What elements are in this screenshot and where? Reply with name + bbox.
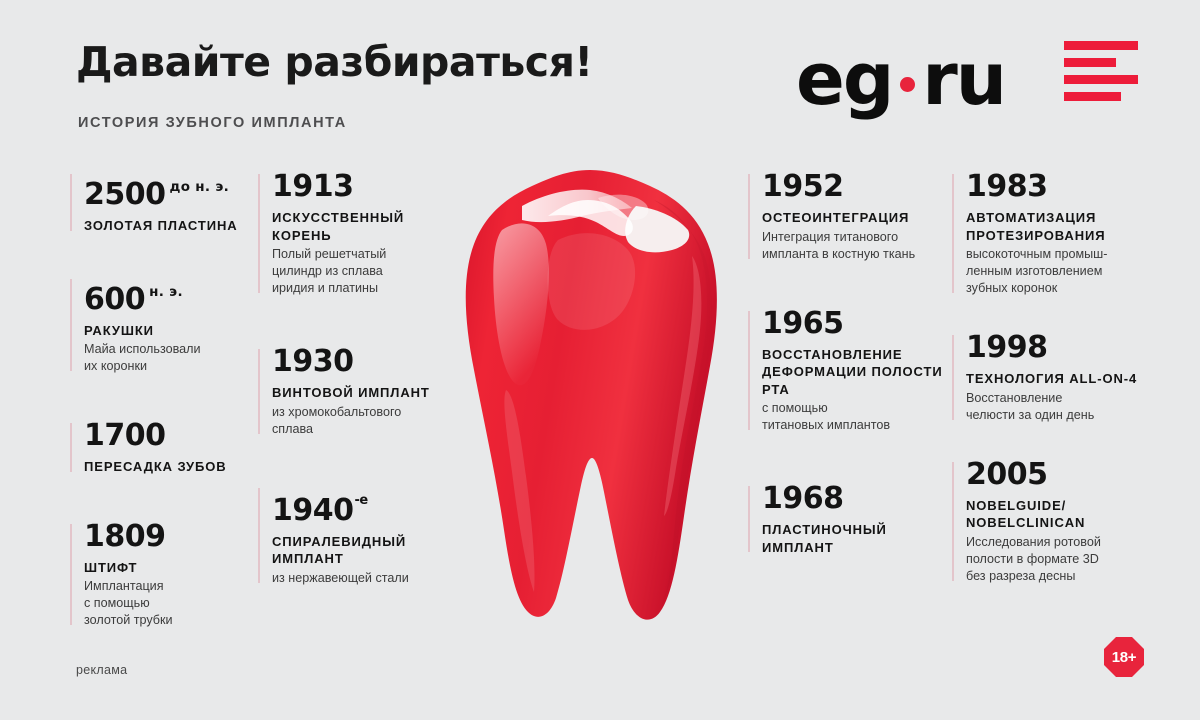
- entry-label: АВТОМАТИЗАЦИЯ ПРОТЕЗИРОВАНИЯ: [966, 209, 1152, 244]
- entry-year: 1998: [966, 331, 1152, 365]
- entry-label: NOBELGUIDE/ NOBELCLINICAN: [966, 497, 1152, 532]
- entry-description: Восстановление челюсти за один день: [966, 390, 1152, 424]
- logo-text-ru: ru: [922, 40, 1005, 118]
- site-logo[interactable]: eg ru: [796, 40, 1005, 118]
- infographic-page: Давайте разбираться! ИСТОРИЯ ЗУБНОГО ИМП…: [0, 0, 1200, 720]
- entry-label: ИСКУССТВЕННЫЙ КОРЕНЬ: [272, 209, 448, 244]
- entry-year: 1809: [84, 520, 256, 554]
- timeline-entry: 1965ВОССТАНОВЛЕНИЕ ДЕФОРМАЦИИ ПОЛОСТИ РТ…: [748, 307, 944, 435]
- timeline-entry: 1952ОСТЕОИНТЕГРАЦИЯИнтеграция титанового…: [748, 170, 944, 263]
- entry-label: ЗОЛОТАЯ ПЛАСТИНА: [84, 217, 256, 235]
- entry-label: ШТИФТ: [84, 559, 256, 577]
- timeline-entry: 1913ИСКУССТВЕННЫЙ КОРЕНЬПолый решетчатый…: [258, 170, 448, 297]
- logo-bar-1: [1064, 41, 1138, 50]
- timeline-entry: 1809ШТИФТИмплантация с помощью золотой т…: [70, 520, 256, 630]
- entry-year: 1952: [762, 170, 944, 204]
- timeline-entry: 1940-еСПИРАЛЕВИДНЫЙ ИМПЛАНТиз нержавеюще…: [258, 484, 448, 587]
- logo-text-eg: eg: [796, 40, 892, 118]
- age-rating-badge: 18+: [1104, 637, 1144, 677]
- entry-label: ТЕХНОЛОГИЯ ALL-ON-4: [966, 370, 1152, 388]
- entry-year: 1968: [762, 482, 944, 516]
- advertisement-note: реклама: [76, 663, 127, 677]
- entry-description: с помощью титановых имплантов: [762, 400, 944, 434]
- logo-bar-4: [1064, 92, 1121, 101]
- timeline-column-4: 1983АВТОМАТИЗАЦИЯ ПРОТЕЗИРОВАНИЯвысокото…: [952, 170, 1152, 585]
- timeline-column-1: 2500до н. э.ЗОЛОТАЯ ПЛАСТИНА600н. э.РАКУ…: [70, 170, 256, 629]
- entry-label: СПИРАЛЕВИДНЫЙ ИМПЛАНТ: [272, 533, 448, 568]
- timeline-entry: 1998ТЕХНОЛОГИЯ ALL-ON-4Восстановление че…: [952, 331, 1152, 424]
- entry-label: РАКУШКИ: [84, 322, 256, 340]
- timeline-column-3: 1952ОСТЕОИНТЕГРАЦИЯИнтеграция титанового…: [748, 170, 944, 556]
- timeline-entry: 600н. э.РАКУШКИМайа использовали их коро…: [70, 275, 256, 376]
- timeline-entry: 1930ВИНТОВОЙ ИМПЛАНТиз хромокобальтового…: [258, 345, 448, 438]
- logo-bar-3: [1064, 75, 1138, 84]
- entry-label: ПЕРЕСАДКА ЗУБОВ: [84, 458, 256, 476]
- entry-label: ВИНТОВОЙ ИМПЛАНТ: [272, 384, 448, 402]
- timeline-column-2: 1913ИСКУССТВЕННЫЙ КОРЕНЬПолый решетчатый…: [258, 170, 448, 587]
- entry-year: 600н. э.: [84, 275, 256, 317]
- entry-label: ОСТЕОИНТЕГРАЦИЯ: [762, 209, 944, 227]
- entry-year: 2500до н. э.: [84, 170, 256, 212]
- entry-year: 1913: [272, 170, 448, 204]
- timeline-entry: 1983АВТОМАТИЗАЦИЯ ПРОТЕЗИРОВАНИЯвысокото…: [952, 170, 1152, 297]
- logo-bar-2: [1064, 58, 1116, 67]
- entry-description: Интеграция титанового импланта в костную…: [762, 229, 944, 263]
- entry-description: Майа использовали их коронки: [84, 341, 256, 375]
- tooth-illustration: [440, 160, 740, 640]
- entry-year: 1940-е: [272, 484, 448, 528]
- entry-description: Полый решетчатый цилиндр из сплава ириди…: [272, 246, 448, 297]
- page-subtitle: ИСТОРИЯ ЗУБНОГО ИМПЛАНТА: [78, 115, 347, 131]
- entry-era-suffix: до н. э.: [170, 179, 230, 195]
- entry-description: высокоточным промыш- ленным изготовление…: [966, 246, 1152, 297]
- hamburger-bars-icon[interactable]: [1064, 41, 1138, 103]
- entry-description: из хромокобальтового сплава: [272, 404, 448, 438]
- page-title: Давайте разбираться!: [76, 38, 593, 86]
- logo-dot-icon: [900, 77, 915, 92]
- entry-year: 1965: [762, 307, 944, 341]
- entry-year: 1983: [966, 170, 1152, 204]
- entry-description: Исследования ротовой полости в формате 3…: [966, 534, 1152, 585]
- entry-year: 1700: [84, 419, 256, 453]
- entry-year: 1930: [272, 345, 448, 379]
- entry-year-suffix: -е: [355, 493, 368, 508]
- timeline-entry: 2005NOBELGUIDE/ NOBELCLINICANИсследовани…: [952, 458, 1152, 585]
- entry-description: Имплантация с помощью золотой трубки: [84, 578, 256, 629]
- timeline-entry: 2500до н. э.ЗОЛОТАЯ ПЛАСТИНА: [70, 170, 256, 235]
- timeline-entry: 1700ПЕРЕСАДКА ЗУБОВ: [70, 419, 256, 476]
- entry-description: из нержавеющей стали: [272, 570, 448, 587]
- entry-era-suffix: н. э.: [149, 284, 183, 300]
- timeline-entry: 1968ПЛАСТИНОЧНЫЙ ИМПЛАНТ: [748, 482, 944, 556]
- entry-year: 2005: [966, 458, 1152, 492]
- entry-label: ПЛАСТИНОЧНЫЙ ИМПЛАНТ: [762, 521, 944, 556]
- entry-label: ВОССТАНОВЛЕНИЕ ДЕФОРМАЦИИ ПОЛОСТИ РТА: [762, 346, 944, 399]
